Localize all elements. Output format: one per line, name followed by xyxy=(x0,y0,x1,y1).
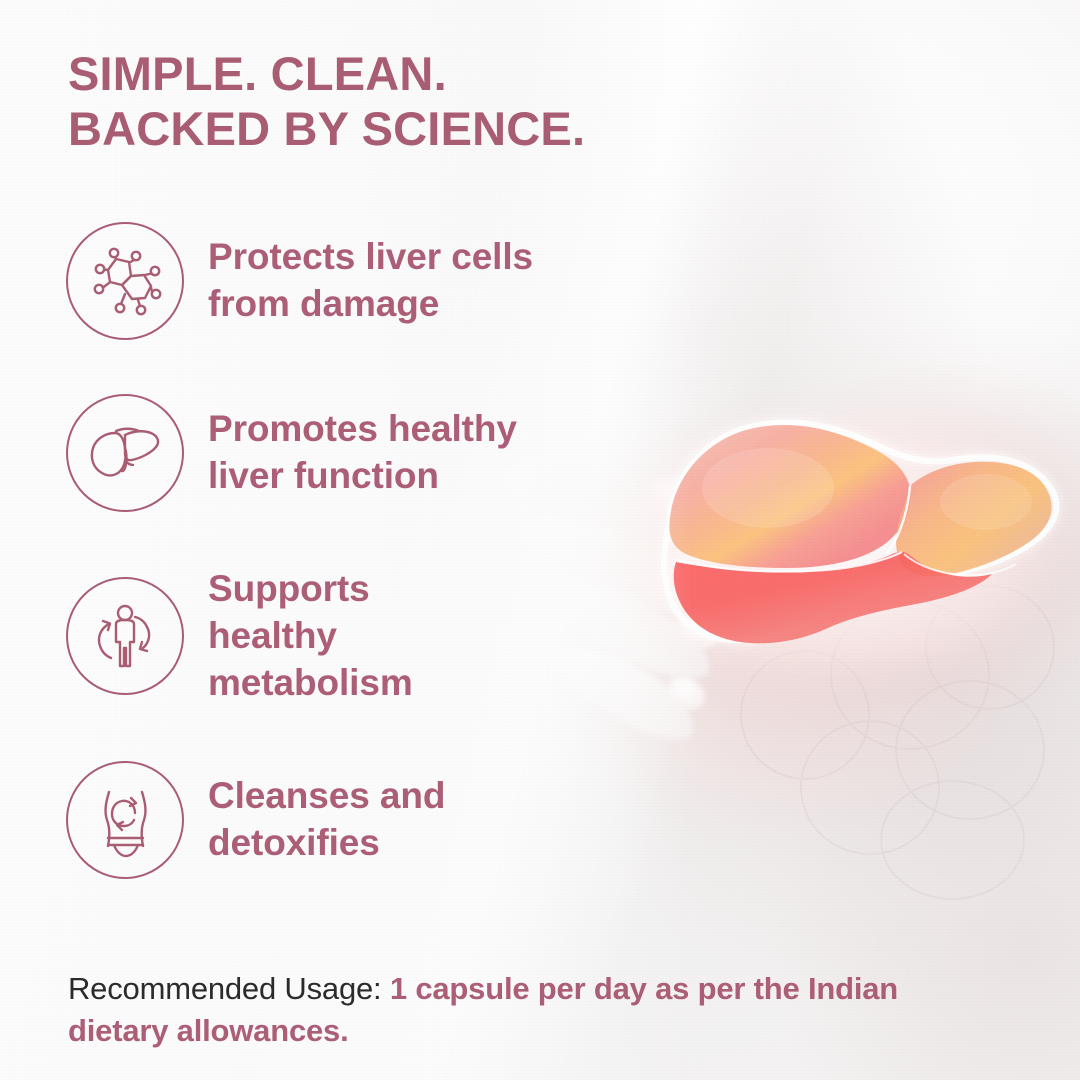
benefit-label: Cleanses and detoxifies xyxy=(208,773,445,867)
page-title: SIMPLE. CLEAN. BACKED BY SCIENCE. xyxy=(68,46,585,157)
liver-supplement-infographic: SIMPLE. CLEAN. BACKED BY SCIENCE. xyxy=(0,0,1080,1080)
benefit-line: liver function xyxy=(208,453,517,500)
benefit-line: detoxifies xyxy=(208,820,445,867)
benefit-line: metabolism xyxy=(208,660,413,707)
benefit-line: healthy xyxy=(208,613,413,660)
molecule-icon xyxy=(66,222,184,340)
recommended-usage: Recommended Usage: 1 capsule per day as … xyxy=(68,968,948,1052)
benefit-line: from damage xyxy=(208,281,533,328)
benefit-item-protects-liver-cells: Protects liver cells from damage xyxy=(66,222,666,340)
detox-torso-icon xyxy=(66,761,184,879)
benefit-label: Supports healthy metabolism xyxy=(208,566,413,707)
headline-line-1: SIMPLE. CLEAN. xyxy=(68,46,585,101)
benefit-line: Supports xyxy=(208,566,413,613)
usage-label: Recommended Usage: xyxy=(68,971,381,1006)
benefit-line: Cleanses and xyxy=(208,773,445,820)
metabolism-person-icon xyxy=(66,577,184,695)
benefit-item-supports-metabolism: Supports healthy metabolism xyxy=(66,566,666,707)
benefits-list: Protects liver cells from damage Pr xyxy=(66,222,666,879)
headline-line-2: BACKED BY SCIENCE. xyxy=(68,101,585,156)
benefit-label: Promotes healthy liver function xyxy=(208,406,517,500)
benefit-item-cleanses-detoxifies: Cleanses and detoxifies xyxy=(66,761,666,879)
benefit-line: Protects liver cells xyxy=(208,234,533,281)
benefit-item-promotes-liver-function: Promotes healthy liver function xyxy=(66,394,666,512)
benefit-line: Promotes healthy xyxy=(208,406,517,453)
benefit-label: Protects liver cells from damage xyxy=(208,234,533,328)
liver-icon xyxy=(66,394,184,512)
